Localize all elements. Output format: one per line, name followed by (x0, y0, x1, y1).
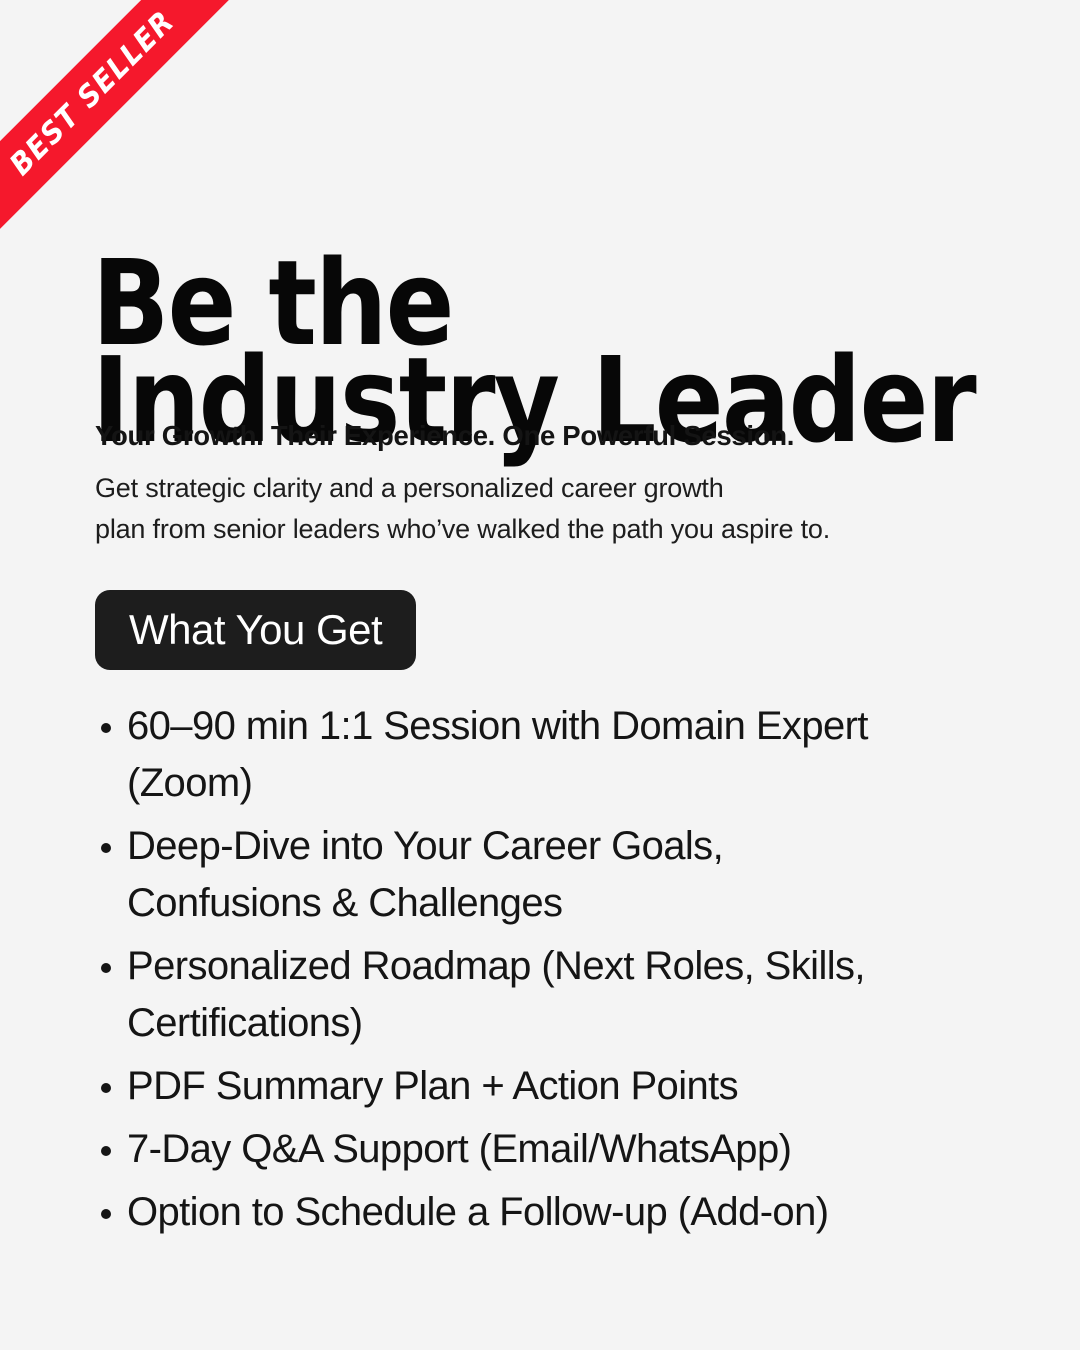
tagline: Your Growth. Their Experience. One Power… (95, 420, 794, 452)
features-list: 60–90 min 1:1 Session with Domain Expert… (95, 698, 1035, 1247)
list-item: Option to Schedule a Follow-up (Add-on) (95, 1184, 1035, 1241)
list-item: PDF Summary Plan + Action Points (95, 1058, 1035, 1115)
list-item-label: 7-Day Q&A Support (Email/WhatsApp) (127, 1127, 791, 1171)
list-item-label: 60–90 min 1:1 Session with Domain Expert… (127, 704, 868, 805)
list-item-label: Deep-Dive into Your Career Goals, Confus… (127, 824, 723, 925)
list-item-label: PDF Summary Plan + Action Points (127, 1064, 738, 1108)
promo-card: BEST SELLER Be the Industry Leader Your … (0, 0, 1080, 1350)
list-item: Deep-Dive into Your Career Goals, Confus… (95, 818, 927, 932)
list-item-label: Personalized Roadmap (Next Roles, Skills… (127, 944, 865, 1045)
bullet-dot-icon (101, 1146, 111, 1156)
sub-description: Get strategic clarity and a personalized… (95, 468, 830, 550)
ribbon-label: BEST SELLER (3, 4, 181, 182)
bullet-dot-icon (101, 723, 111, 733)
list-item-label: Option to Schedule a Follow-up (Add-on) (127, 1190, 828, 1234)
list-item: Personalized Roadmap (Next Roles, Skills… (95, 938, 927, 1052)
what-you-get-label: What You Get (129, 606, 382, 654)
sub-description-line-1: Get strategic clarity and a personalized… (95, 468, 830, 509)
sub-description-line-2: plan from senior leaders who’ve walked t… (95, 509, 830, 550)
ribbon-band: BEST SELLER (0, 0, 255, 256)
bullet-dot-icon (101, 963, 111, 973)
bullet-dot-icon (101, 843, 111, 853)
bullet-dot-icon (101, 1209, 111, 1219)
list-item: 60–90 min 1:1 Session with Domain Expert… (95, 698, 927, 812)
list-item: 7-Day Q&A Support (Email/WhatsApp) (95, 1121, 1035, 1178)
what-you-get-badge: What You Get (95, 590, 416, 670)
bullet-dot-icon (101, 1083, 111, 1093)
